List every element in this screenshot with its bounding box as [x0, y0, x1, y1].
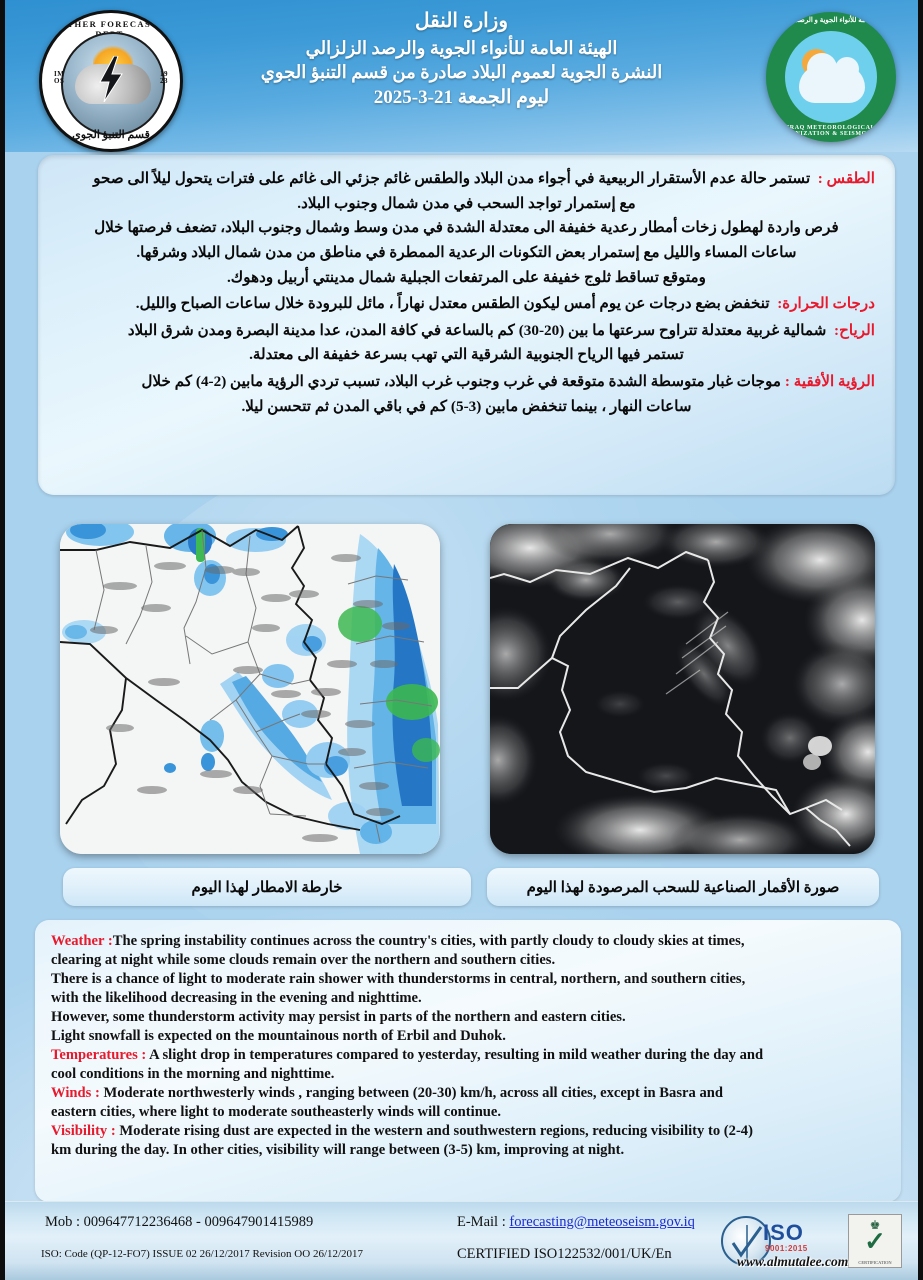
english-weather-line-2: clearing at night while some clouds rema… [51, 951, 885, 970]
imos-ring-arabic-text: الهيئة العامة للأنواء الجوية و الرصد الز… [766, 16, 896, 24]
satellite-cloud-image[interactable] [490, 524, 875, 854]
iso-badge-standard: 9001:2015 [765, 1244, 808, 1253]
english-visibility-text-1: Moderate rising dust are expected in the… [116, 1123, 753, 1139]
arabic-wind-block: الرياح: شمالية غربية معتدلة تتراوح سرعته… [58, 319, 875, 368]
arabic-weather-text-1: تستمر حالة عدم الأستقرار الربيعية في أجو… [93, 170, 810, 187]
maps-row [5, 512, 918, 857]
english-weather-line-4: with the likelihood decreasing in the ev… [51, 989, 885, 1008]
cloud-icon [799, 65, 865, 103]
site-url-watermark: www.almutalee.com [737, 1254, 848, 1270]
ukas-caption: CERTIFICATION [849, 1260, 901, 1265]
arabic-weather-block: الطقس : تستمر حالة عدم الأستقرار الربيعي… [58, 167, 875, 290]
footer-iso-code: ISO: Code (QP-12-FO7) ISSUE 02 26/12/201… [41, 1248, 363, 1260]
arabic-weather-line-2: مع إستمرار تواجد السحب في مدن شمال وجنوب… [58, 192, 875, 217]
arabic-weather-label: الطقس : [818, 170, 875, 187]
english-temperature-text-1: A slight drop in temperatures compared t… [146, 1047, 763, 1063]
checkmark-icon: ✓ [849, 1229, 901, 1255]
english-visibility-line-1: Visibility : Moderate rising dust are ex… [51, 1122, 885, 1141]
imos-organization-logo: الهيئة العامة للأنواء الجوية و الرصد الز… [766, 12, 896, 142]
arabic-temperature-block: درجات الحرارة: تنخفض بضع درجات عن يوم أم… [58, 292, 875, 317]
english-weather-label: Weather : [51, 933, 113, 949]
arabic-temperature-line-1: درجات الحرارة: تنخفض بضع درجات عن يوم أم… [58, 292, 875, 317]
arabic-weather-line-1: الطقس : تستمر حالة عدم الأستقرار الربيعي… [58, 167, 875, 192]
english-wind-line-1: Winds : Moderate northwesterly winds , r… [51, 1084, 885, 1103]
rain-map-caption: خارطة الامطار لهذا اليوم [63, 868, 471, 906]
arabic-wind-line-1: الرياح: شمالية غربية معتدلة تتراوح سرعته… [58, 319, 875, 344]
english-wind-line-2: eastern cities, where light to moderate … [51, 1103, 885, 1122]
english-temperature-label: Temperatures : [51, 1047, 146, 1063]
satellite-caption: صورة الأقمار الصناعية للسحب المرصودة لهذ… [487, 868, 879, 906]
rain-map-caption-text: خارطة الامطار لهذا اليوم [191, 878, 342, 897]
arabic-visibility-label: الرؤية الأفقية : [785, 373, 875, 390]
footer-logos: ISO 9001:2015 ♚ ✓ CERTIFICATION www.almu… [715, 1210, 910, 1274]
arabic-weather-line-5: ومتوقع تساقط ثلوج خفيفة على المرتفعات ال… [58, 266, 875, 291]
imos-ring-english-text: IRAQ METEOROLOGICAL ORGANIZATION & SEISM… [766, 125, 896, 137]
seal-arc-bottom-text: قسم التنبؤ الجوي [42, 128, 180, 141]
page-header: WEATHER FORECASTING DEPT. IMOS 1923 قسم … [5, 0, 918, 152]
arabic-wind-label: الرياح: [834, 322, 875, 339]
rainfall-map-graphic [60, 524, 440, 854]
arabic-visibility-line-1: الرؤية الأفقية : موجات غبار متوسطة الشدة… [58, 370, 875, 395]
english-visibility-label: Visibility : [51, 1123, 116, 1139]
footer-email-label: E-Mail : [457, 1214, 509, 1230]
english-temperature-line-2: cool conditions in the morning and night… [51, 1065, 885, 1084]
arabic-visibility-line-2: ساعات النهار ، بينما تنخفض مابين (3-5) ك… [58, 395, 875, 420]
arabic-temperature-label: درجات الحرارة: [777, 295, 875, 312]
footer-email-link[interactable]: forecasting@meteoseism.gov.iq [509, 1214, 695, 1230]
english-temperature-line-1: Temperatures : A slight drop in temperat… [51, 1046, 885, 1065]
english-forecast-panel: Weather :The spring instability continue… [35, 920, 901, 1202]
english-weather-line-5: However, some thunderstorm activity may … [51, 1008, 885, 1027]
satellite-map-graphic [490, 524, 875, 854]
english-weather-line-1: Weather :The spring instability continue… [51, 932, 885, 951]
footer-certification: CERTIFIED ISO122532/001/UK/En [457, 1246, 672, 1263]
arabic-wind-text-1: شمالية غربية معتدلة تتراوح سرعتها ما بين… [128, 322, 827, 339]
arabic-visibility-block: الرؤية الأفقية : موجات غبار متوسطة الشدة… [58, 370, 875, 419]
english-weather-line-6: Light snowfall is expected on the mounta… [51, 1027, 885, 1046]
page-footer: Mob : 009647712236468 - 009647901415989 … [5, 1201, 918, 1280]
english-weather-line-3: There is a chance of light to moderate r… [51, 970, 885, 989]
rainfall-map-image[interactable] [60, 524, 440, 854]
arabic-temperature-text-1: تنخفض بضع درجات عن يوم أمس ليكون الطقس م… [136, 295, 770, 312]
arabic-weather-line-4: ساعات المساء والليل مع إستمرار بعض التكو… [58, 241, 875, 266]
imos-inner-disc [785, 31, 877, 123]
arabic-forecast-panel: الطقس : تستمر حالة عدم الأستقرار الربيعي… [38, 155, 895, 495]
iso-badge-word: ISO [763, 1220, 804, 1246]
ukas-badge: ♚ ✓ CERTIFICATION [848, 1214, 902, 1268]
arabic-weather-line-3: فرص واردة لهطول زخات أمطار رعدية خفيفة ا… [58, 216, 875, 241]
weather-bulletin-page: WEATHER FORECASTING DEPT. IMOS 1923 قسم … [0, 0, 923, 1280]
english-weather-text-1: The spring instability continues across … [113, 933, 745, 949]
english-wind-text-1: Moderate northwesterly winds , ranging b… [100, 1085, 723, 1101]
arabic-wind-line-2: تستمر فيها الرياح الجنوبية الشرقية التي … [58, 343, 875, 368]
satellite-caption-text: صورة الأقمار الصناعية للسحب المرصودة لهذ… [527, 878, 840, 897]
footer-mobile-numbers: Mob : 009647712236468 - 009647901415989 [45, 1214, 313, 1231]
arabic-visibility-text-1: موجات غبار متوسطة الشدة متوقعة في غرب وج… [141, 373, 781, 390]
footer-email: E-Mail : forecasting@meteoseism.gov.iq [457, 1214, 695, 1231]
english-visibility-line-2: km during the day. In other cities, visi… [51, 1141, 885, 1160]
english-wind-label: Winds : [51, 1085, 100, 1101]
